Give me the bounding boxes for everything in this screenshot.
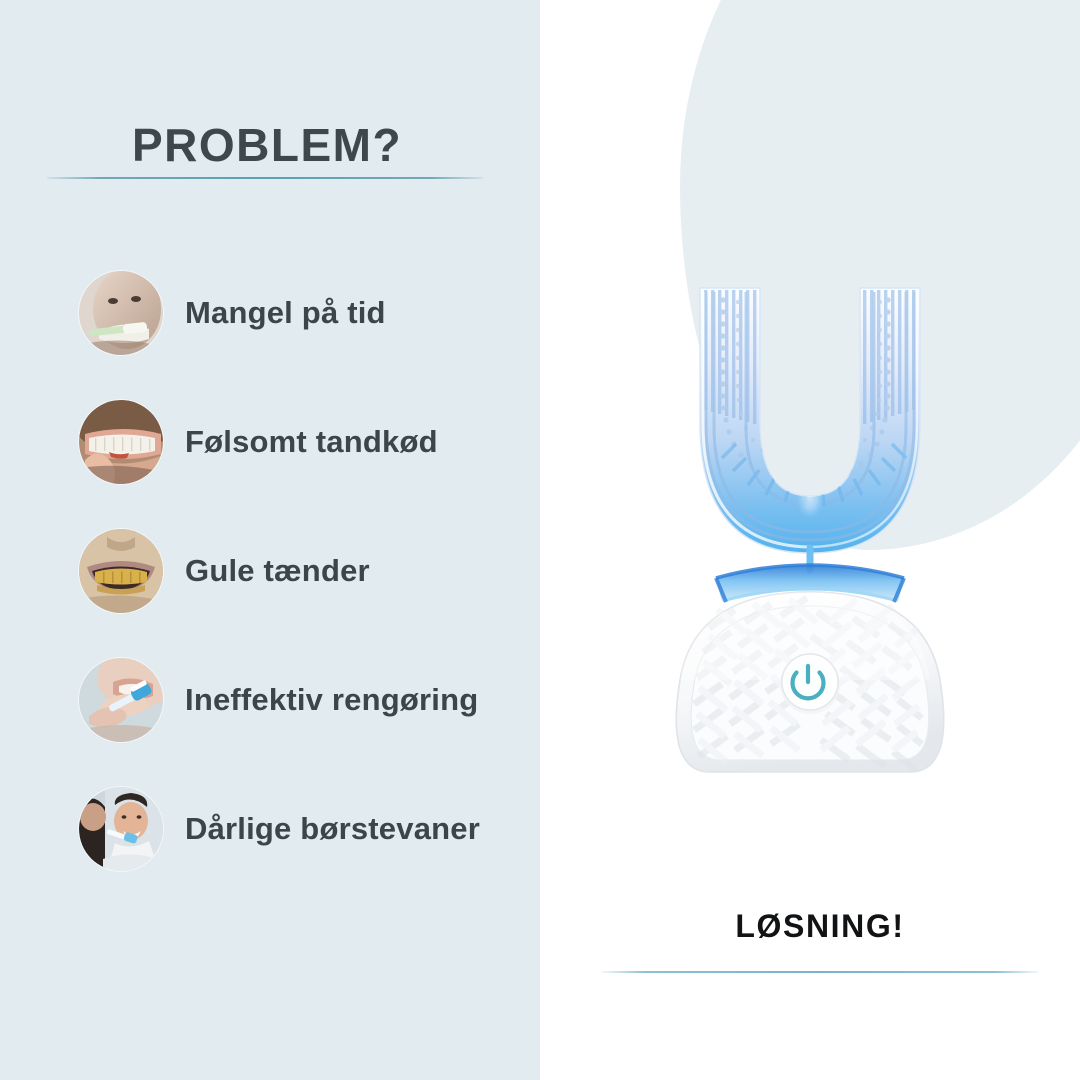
list-item: Følsomt tandkød xyxy=(0,377,540,506)
sensitive-gums-photo xyxy=(79,400,163,484)
yellow-teeth-photo xyxy=(79,529,163,613)
list-item-label: Mangel på tid xyxy=(185,295,386,331)
list-item: Ineffektiv rengøring xyxy=(0,635,540,764)
solution-title: LØSNING! xyxy=(602,908,1038,945)
ineffective-brushing-photo xyxy=(79,658,163,742)
man-brushing-teeth-photo xyxy=(79,271,163,355)
power-button-group xyxy=(780,654,840,714)
list-item-label: Ineffektiv rengøring xyxy=(185,682,478,718)
solution-panel: LØSNING! xyxy=(540,0,1080,1080)
page-title: PROBLEM? xyxy=(47,120,487,171)
list-item-label: Dårlige børstevaner xyxy=(185,811,480,847)
list-item: Mangel på tid xyxy=(0,248,540,377)
problem-list: Mangel på tid xyxy=(0,248,540,893)
list-item: Gule tænder xyxy=(0,506,540,635)
solution-divider xyxy=(602,971,1038,973)
list-item-label: Gule tænder xyxy=(185,553,370,589)
problem-panel: PROBLEM? xyxy=(0,0,540,1080)
list-item: Dårlige børstevaner xyxy=(0,764,540,893)
bad-brushing-habits-photo xyxy=(79,787,163,871)
list-item-label: Følsomt tandkød xyxy=(185,424,438,460)
title-divider xyxy=(47,177,483,179)
u-shaped-electric-toothbrush xyxy=(540,248,1080,788)
promo-canvas: PROBLEM? xyxy=(0,0,1080,1080)
